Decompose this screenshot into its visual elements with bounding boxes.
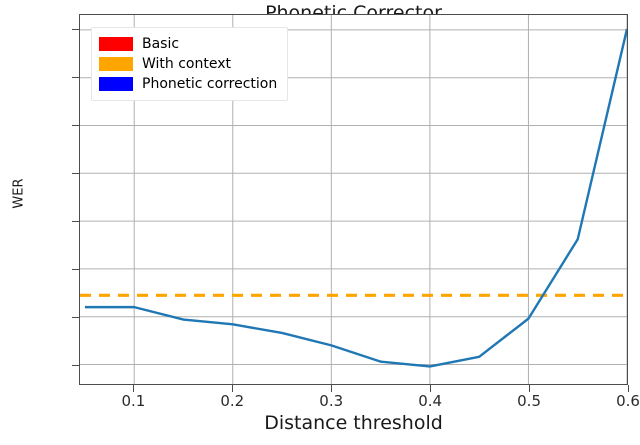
legend-item[interactable]: With context <box>99 54 277 74</box>
y-tick-mark <box>72 173 79 174</box>
y-tick-mark <box>72 317 79 318</box>
x-axis-label: Distance threshold <box>79 412 628 434</box>
y-tick-mark <box>72 29 79 30</box>
x-tick-label: 0.2 <box>202 392 262 410</box>
x-tick-label: 0.6 <box>598 392 640 410</box>
x-tick-label: 0.1 <box>103 392 163 410</box>
x-tick-mark <box>232 385 233 392</box>
x-tick-label: 0.5 <box>499 392 559 410</box>
legend-swatch-icon <box>99 77 133 91</box>
legend-item-label: With context <box>142 54 231 74</box>
y-tick-mark <box>72 221 79 222</box>
x-tick-mark <box>133 385 134 392</box>
x-tick-label: 0.3 <box>301 392 361 410</box>
legend-item[interactable]: Basic <box>99 34 277 54</box>
x-tick-mark <box>529 385 530 392</box>
y-tick-mark <box>72 125 79 126</box>
y-tick-mark <box>72 269 79 270</box>
x-tick-mark <box>628 385 629 392</box>
y-tick-mark <box>72 365 79 366</box>
chart-figure: Phonetic Corrector WER Distance threshol… <box>0 0 640 445</box>
y-axis-label: WER <box>12 159 27 229</box>
y-tick-mark <box>72 77 79 78</box>
legend-item[interactable]: Phonetic correction <box>99 74 277 94</box>
chart-legend: BasicWith contextPhonetic correction <box>91 27 288 101</box>
x-tick-mark <box>430 385 431 392</box>
legend-swatch-icon <box>99 57 133 71</box>
x-tick-mark <box>331 385 332 392</box>
legend-item-label: Phonetic correction <box>142 74 277 94</box>
legend-swatch-icon <box>99 37 133 51</box>
x-tick-label: 0.4 <box>400 392 460 410</box>
legend-item-label: Basic <box>142 34 179 54</box>
